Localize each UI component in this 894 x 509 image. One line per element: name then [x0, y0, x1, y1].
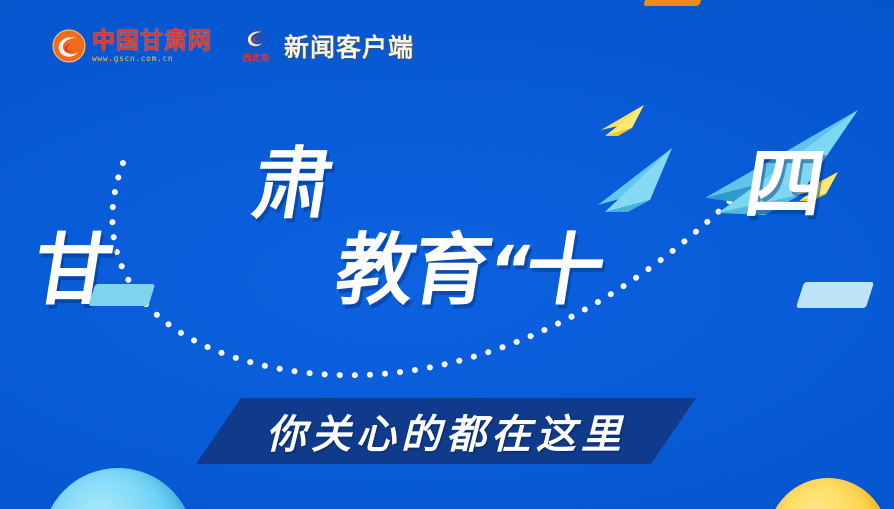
subtitle-banner: 你关心的都在这里: [196, 398, 696, 464]
headline-char-1-glyph: 肃: [247, 140, 337, 230]
headline-char-3: 育: [406, 228, 496, 314]
logo-title-news-client: 新闻客户端: [284, 28, 414, 64]
page-title: 甘 肃 教 育 “ 十 四 五 ” 规 划: [34, 222, 894, 314]
headline-char-2: 教: [330, 228, 420, 314]
logo-bar: 中国甘肃网 www.gscn.com.cn 西北角 新闻客户端: [52, 28, 414, 64]
logo-url-china-gansu-net: www.gscn.com.cn: [92, 55, 173, 63]
subtitle-text: 你关心的都在这里: [196, 398, 696, 464]
logo-badge-text: 西北角: [236, 55, 276, 64]
logo-title-china-gansu-net: 中国甘肃网: [92, 30, 212, 53]
logo-china-gansu-net[interactable]: 中国甘肃网 www.gscn.com.cn: [52, 29, 212, 63]
poster-root: 中国甘肃网 www.gscn.com.cn 西北角 新闻客户端 甘 肃 教 育: [0, 0, 894, 509]
swirl-badge-logo-icon: 西北角: [236, 28, 276, 64]
swirl-c-logo-icon: [52, 29, 86, 63]
logo-northwest-corner-news-client[interactable]: 西北角 新闻客户端: [236, 28, 414, 64]
